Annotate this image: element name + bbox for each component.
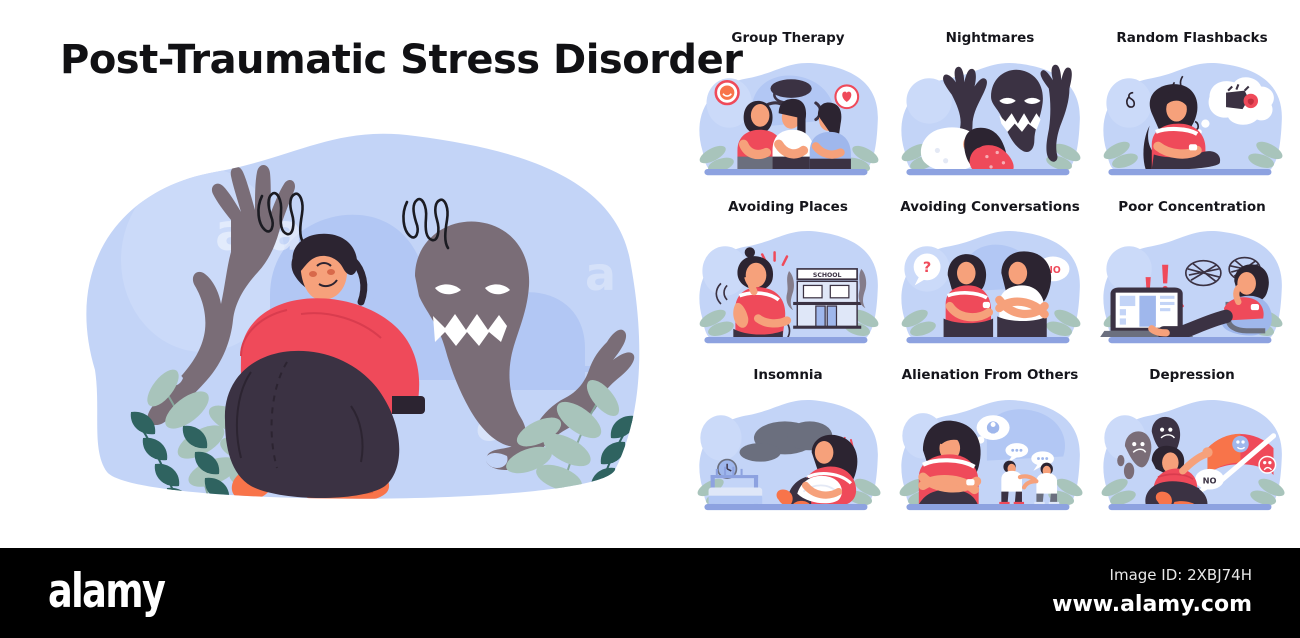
grid-cell-group-therapy[interactable]: Group Therapy	[690, 32, 886, 195]
symptom-grid: Group Therapy Nightmares	[690, 32, 1290, 532]
alamy-watermark-bar: alamy Image ID: 2XBJ74H www.alamy.com	[0, 548, 1300, 638]
cell-label-random-flashbacks: Random Flashbacks	[1116, 32, 1267, 46]
hero-ground-bar	[83, 504, 643, 519]
question-bubble-label: ?	[923, 260, 931, 276]
cell-art-nightmares	[892, 50, 1088, 195]
cell-art-random-flashbacks	[1094, 50, 1290, 195]
alamy-logo: alamy	[48, 564, 164, 619]
grid-cell-random-flashbacks[interactable]: Random Flashbacks	[1094, 32, 1290, 195]
hero-illustration: ala a a a	[55, 120, 655, 520]
cell-label-poor-concentration: Poor Concentration	[1118, 201, 1266, 215]
watermark-ghost-text-4: a	[585, 247, 616, 301]
grid-cell-depression[interactable]: Depression NO	[1094, 369, 1290, 532]
grid-cell-avoiding-conversations[interactable]: Avoiding Conversations ? NO	[892, 201, 1088, 364]
cell-art-depression: NO	[1094, 387, 1290, 532]
cell-art-avoiding-places: SCHOOL	[690, 218, 886, 363]
alamy-url: www.alamy.com	[1052, 592, 1252, 617]
grid-cell-poor-concentration[interactable]: Poor Concentration	[1094, 201, 1290, 364]
cell-label-avoiding-conversations: Avoiding Conversations	[900, 201, 1080, 215]
cell-label-avoiding-places: Avoiding Places	[728, 201, 848, 215]
cell-label-depression: Depression	[1149, 369, 1234, 383]
cell-art-poor-concentration	[1094, 218, 1290, 363]
grid-cell-nightmares[interactable]: Nightmares	[892, 32, 1088, 195]
grid-cell-avoiding-places[interactable]: Avoiding Places SCHOOL	[690, 201, 886, 364]
cell-art-group-therapy	[690, 50, 886, 195]
heart-badge	[835, 85, 858, 108]
cell-label-alienation-from-others: Alienation From Others	[902, 369, 1079, 383]
cell-label-group-therapy: Group Therapy	[731, 32, 844, 46]
illustration-page: Post-Traumatic Stress Disorder	[0, 0, 1300, 638]
cell-art-alienation-from-others	[892, 387, 1088, 532]
school-building: SCHOOL	[793, 269, 861, 329]
grid-cell-insomnia[interactable]: Insomnia	[690, 369, 886, 532]
cell-art-avoiding-conversations: ? NO	[892, 218, 1088, 363]
smiley-badge	[716, 81, 739, 104]
cell-label-insomnia: Insomnia	[753, 369, 822, 383]
page-title: Post-Traumatic Stress Disorder	[60, 38, 680, 82]
cell-art-insomnia	[690, 387, 886, 532]
woman-right	[997, 252, 1051, 340]
image-id-label: Image ID: 2XBJ74H	[1110, 566, 1252, 584]
cell-label-nightmares: Nightmares	[946, 32, 1035, 46]
grid-cell-alienation-from-others[interactable]: Alienation From Others	[892, 369, 1088, 532]
school-sign-label: SCHOOL	[813, 272, 842, 279]
depression-no-bubble-label: NO	[1203, 475, 1217, 485]
